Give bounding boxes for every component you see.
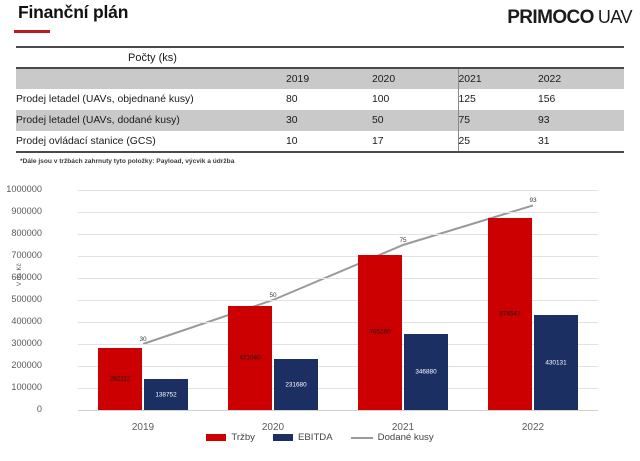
- financial-plan-chart: V tis. Kč 100000010090000090800000807000…: [8, 182, 632, 460]
- chart-gridline: [78, 190, 598, 191]
- cell-delivered-2019: 30: [286, 110, 372, 131]
- chart-gridline: [78, 212, 598, 213]
- cell-gcs-2022: 31: [538, 131, 624, 152]
- cell-gcs-2020: 17: [372, 131, 458, 152]
- y-axis-tick-left: 200000: [0, 360, 42, 370]
- chart-gridline: [78, 410, 598, 411]
- legend-label: Dodané kusy: [378, 432, 434, 443]
- counts-table-wrap: Počty (ks) 2019 2020 2021 2022 Prodej le…: [16, 46, 624, 153]
- bar-revenue-2021: 705280: [358, 255, 402, 410]
- y-axis-tick-left: 0: [0, 404, 42, 414]
- row-label-gcs: Prodej ovládací stanice (GCS): [16, 131, 286, 152]
- bar-ebitda-2019: 138752: [144, 379, 188, 410]
- bar-value-label: 138752: [144, 391, 188, 398]
- y-axis-tick-left: 1000000: [0, 184, 42, 194]
- row-label-delivered: Prodej letadel (UAVs, dodané kusy): [16, 110, 286, 131]
- line-point-label: 50: [269, 292, 276, 299]
- cell-orders-2022: 156: [538, 89, 624, 110]
- table-header-2019: 2019: [286, 68, 372, 89]
- legend-swatch-icon: [351, 437, 373, 439]
- bar-ebitda-2021: 346880: [404, 334, 448, 410]
- y-axis-tick-left: 700000: [0, 250, 42, 260]
- cell-delivered-2022: 93: [538, 110, 624, 131]
- logo-suffix: UAV: [598, 7, 632, 28]
- table-header-blank: [16, 68, 286, 89]
- table-header-2021: 2021: [458, 68, 538, 89]
- bar-value-label: 231680: [274, 381, 318, 388]
- legend-swatch-icon: [273, 434, 293, 441]
- legend-swatch-icon: [206, 434, 226, 441]
- y-axis-tick-left: 100000: [0, 382, 42, 392]
- chart-legend: TržbyEBITDADodané kusy: [8, 432, 632, 443]
- table-header-2020: 2020: [372, 68, 458, 89]
- bar-revenue-2022: 874547: [488, 218, 532, 410]
- cell-orders-2019: 80: [286, 89, 372, 110]
- bar-value-label: 282112: [98, 375, 142, 382]
- y-axis-tick-left: 500000: [0, 294, 42, 304]
- cell-delivered-2021: 75: [458, 110, 538, 131]
- table-section-title-row: Počty (ks): [16, 47, 624, 68]
- table-footnote: *Dále jsou v tržbách zahrnuty tyto polož…: [20, 158, 234, 165]
- page-title: Finanční plán: [18, 2, 128, 23]
- bar-value-label: 471040: [228, 355, 272, 362]
- legend-item-dodané-kusy[interactable]: Dodané kusy: [351, 432, 434, 443]
- bar-revenue-2020: 471040: [228, 306, 272, 410]
- bar-ebitda-2020: 231680: [274, 359, 318, 410]
- table-header-row: 2019 2020 2021 2022: [16, 68, 624, 89]
- bar-value-label: 705280: [358, 329, 402, 336]
- line-point-label: 93: [529, 197, 536, 204]
- bar-value-label: 874547: [488, 310, 532, 317]
- bar-value-label: 430131: [534, 359, 578, 366]
- line-path-delivered-units: [143, 205, 533, 344]
- legend-item-ebitda[interactable]: EBITDA: [273, 432, 333, 443]
- y-axis-tick-left: 900000: [0, 206, 42, 216]
- bar-ebitda-2022: 430131: [534, 315, 578, 410]
- y-axis-tick-left: 600000: [0, 272, 42, 282]
- table-row: Prodej letadel (UAVs, dodané kusy) 30 50…: [16, 110, 624, 131]
- logo-wordmark: PRIMOCO: [507, 7, 594, 29]
- cell-orders-2020: 100: [372, 89, 458, 110]
- primoco-uav-logo: PRIMOCO UAV: [507, 7, 632, 29]
- line-point-label: 75: [399, 237, 406, 244]
- slide-canvas: Finanční plán PRIMOCO UAV Počty (ks) 201…: [0, 0, 640, 461]
- counts-table: Počty (ks) 2019 2020 2021 2022 Prodej le…: [16, 46, 624, 153]
- table-row: Prodej ovládací stanice (GCS) 10 17 25 3…: [16, 131, 624, 152]
- y-axis-tick-left: 300000: [0, 338, 42, 348]
- table-header-2022: 2022: [538, 68, 624, 89]
- legend-label: EBITDA: [298, 432, 333, 443]
- chart-plot-area: 1000000100900000908000008070000070600000…: [78, 190, 598, 410]
- table-row: Prodej letadel (UAVs, objednané kusy) 80…: [16, 89, 624, 110]
- y-axis-tick-left: 800000: [0, 228, 42, 238]
- line-point-label: 30: [139, 336, 146, 343]
- legend-item-tržby[interactable]: Tržby: [206, 432, 255, 443]
- row-label-orders: Prodej letadel (UAVs, objednané kusy): [16, 89, 286, 110]
- title-underline-rule: [14, 30, 50, 33]
- cell-orders-2021: 125: [458, 89, 538, 110]
- table-section-title: Počty (ks): [16, 47, 624, 68]
- cell-gcs-2019: 10: [286, 131, 372, 152]
- bar-revenue-2019: 282112: [98, 348, 142, 410]
- cell-gcs-2021: 25: [458, 131, 538, 152]
- legend-label: Tržby: [231, 432, 255, 443]
- cell-delivered-2020: 50: [372, 110, 458, 131]
- y-axis-tick-left: 400000: [0, 316, 42, 326]
- bar-value-label: 346880: [404, 368, 448, 375]
